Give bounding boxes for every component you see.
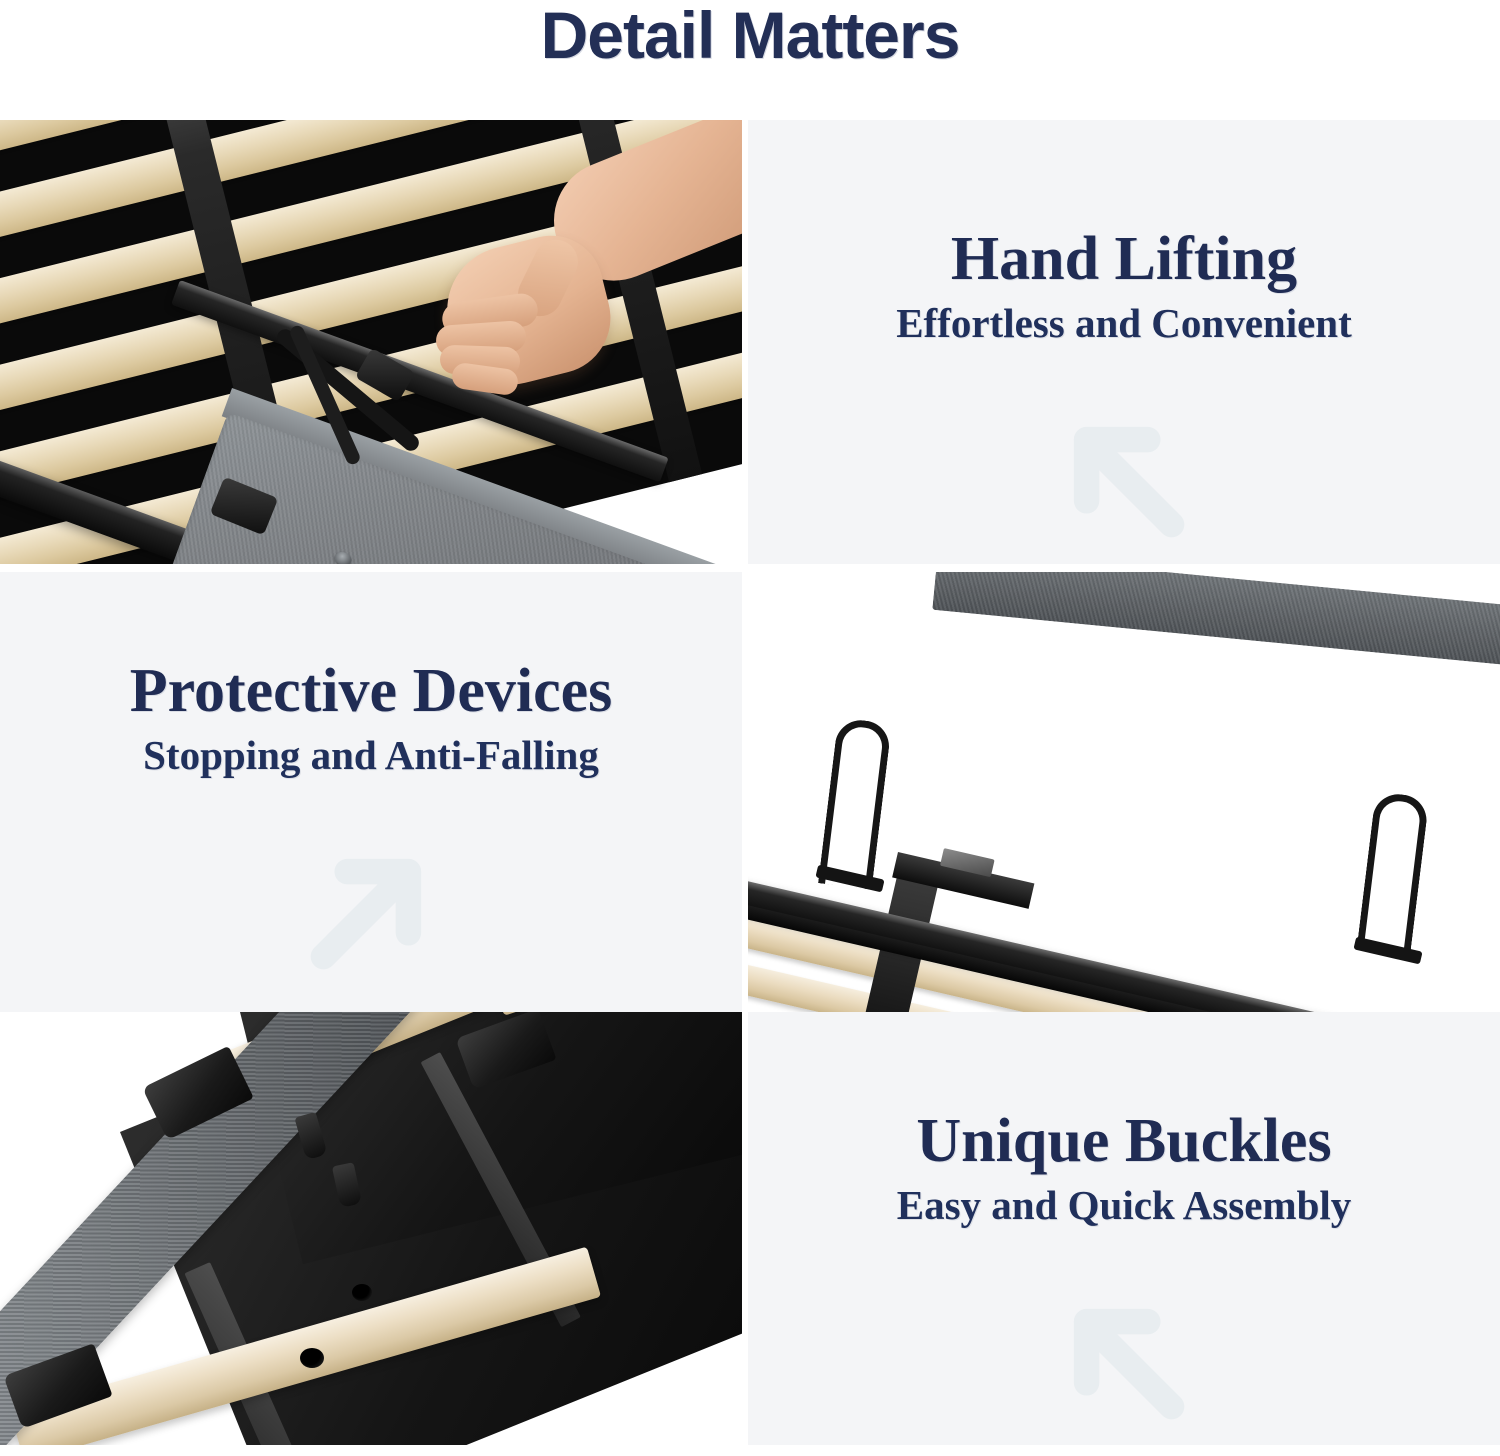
anti-falling-wire-stopper-photo bbox=[745, 568, 1500, 1012]
feature-subtitle: Effortless and Convenient bbox=[896, 301, 1352, 346]
feature-panel-protective-devices: Protective Devices Stopping and Anti-Fal… bbox=[0, 568, 745, 1012]
page-title: Detail Matters bbox=[541, 2, 960, 68]
feature-subtitle: Easy and Quick Assembly bbox=[897, 1183, 1352, 1228]
arrow-up-right-icon bbox=[286, 824, 456, 994]
arrow-up-left-icon bbox=[1039, 1274, 1209, 1444]
infographic-page: Detail Matters bbox=[0, 0, 1500, 1456]
hand-lifting-slat-frame-photo bbox=[0, 120, 745, 568]
feature-grid: Hand Lifting Effortless and Convenient P… bbox=[0, 120, 1500, 1450]
feature-title: Protective Devices bbox=[130, 660, 613, 723]
feature-panel-hand-lifting: Hand Lifting Effortless and Convenient bbox=[745, 120, 1500, 568]
feature-panel-unique-buckles: Unique Buckles Easy and Quick Assembly bbox=[745, 1012, 1500, 1445]
arrow-up-left-icon bbox=[1039, 392, 1209, 562]
buckle-end-cap-photo bbox=[0, 1012, 745, 1445]
feature-title: Unique Buckles bbox=[916, 1110, 1331, 1173]
feature-title: Hand Lifting bbox=[951, 228, 1297, 291]
header: Detail Matters bbox=[0, 0, 1500, 120]
feature-subtitle: Stopping and Anti-Falling bbox=[143, 733, 599, 778]
